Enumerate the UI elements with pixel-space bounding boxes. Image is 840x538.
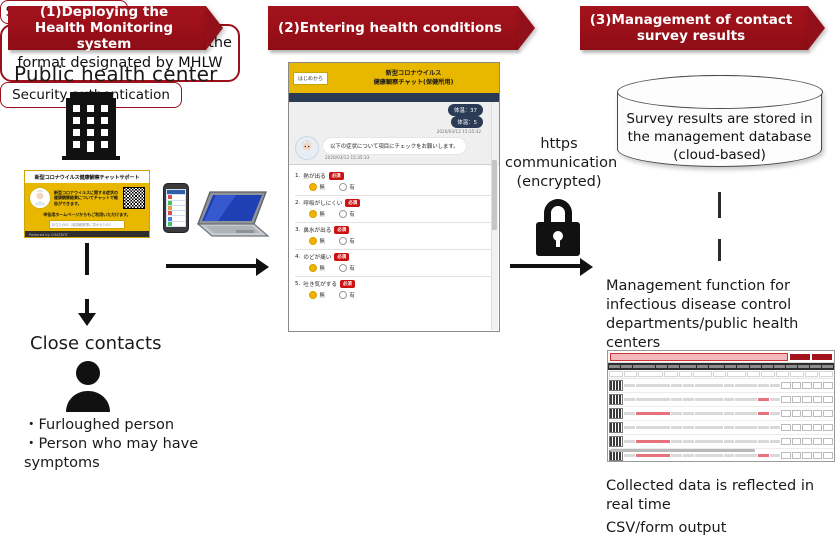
option-yes[interactable]: 有 bbox=[339, 291, 355, 299]
https-line-3: (encrypted) bbox=[505, 173, 613, 192]
question-number: 1. bbox=[295, 173, 300, 179]
option-no-label: 無 bbox=[320, 210, 325, 218]
connector-security-to-management bbox=[718, 239, 721, 261]
radio-no-icon[interactable] bbox=[309, 237, 317, 245]
option-no[interactable]: 無 bbox=[309, 210, 325, 218]
chat-scrollbar-thumb[interactable] bbox=[492, 160, 497, 230]
database-cylinder-top bbox=[617, 75, 823, 109]
radio-yes-icon[interactable] bbox=[339, 264, 347, 272]
https-line-2: communication bbox=[505, 154, 613, 173]
database-cylinder-icon: Survey results are stored inthe manageme… bbox=[617, 75, 822, 167]
table-action-button-2[interactable] bbox=[812, 354, 832, 360]
arrow-down-to-guidance bbox=[85, 243, 89, 275]
person-icon bbox=[62, 360, 114, 412]
arrow-right-step1-to-step2-line bbox=[166, 264, 258, 268]
question-label: 1. 熱が出る 必須 bbox=[295, 172, 493, 180]
footer-line-2: CSV/form output bbox=[606, 519, 838, 538]
table-header-row bbox=[608, 363, 834, 370]
https-communication-label: https communication (encrypted) bbox=[505, 135, 613, 192]
option-yes[interactable]: 有 bbox=[339, 183, 355, 191]
doctor-avatar-icon bbox=[295, 136, 319, 160]
option-no[interactable]: 無 bbox=[309, 291, 325, 299]
arrow-down-to-contacts-head bbox=[78, 313, 96, 326]
table-row[interactable] bbox=[608, 393, 834, 407]
question-label: 2. 呼吸がしにくい 必須 bbox=[295, 199, 493, 207]
radio-yes-icon[interactable] bbox=[339, 237, 347, 245]
option-yes-label: 有 bbox=[349, 237, 354, 245]
banner-step-1-label: (1)Deploying the Health Monitoring syste… bbox=[16, 4, 192, 52]
banner-step-3-label: (3)Management of contact survey results bbox=[588, 12, 794, 44]
question-label: 4. のどが痛い 必須 bbox=[295, 253, 493, 261]
database-text: Survey results are stored inthe manageme… bbox=[618, 110, 821, 164]
poster-title: 新型コロナウイルス健康観察チャットサポート bbox=[25, 171, 149, 183]
poster-subtext: 申告用ホームページからもご利用いただけます。 bbox=[25, 212, 149, 218]
required-badge: 必須 bbox=[329, 172, 344, 180]
banner-step-2: (2)Entering health conditions bbox=[268, 6, 518, 50]
user-timestamp: 2020/03/12 15:35:32 bbox=[437, 129, 481, 134]
row-thumbnail bbox=[609, 394, 623, 405]
required-badge: 必須 bbox=[334, 253, 349, 261]
option-no-label: 無 bbox=[320, 237, 325, 245]
option-yes-label: 有 bbox=[349, 183, 354, 191]
chat-support-poster: 新型コロナウイルス健康観察チャットサポート 新型コロナウイルスに関する症状の健康… bbox=[24, 170, 150, 238]
radio-no-icon[interactable] bbox=[309, 264, 317, 272]
option-no-label: 無 bbox=[320, 264, 325, 272]
close-contacts-title: Close contacts bbox=[30, 333, 162, 354]
table-toolbar[interactable] bbox=[608, 351, 834, 363]
option-no[interactable]: 無 bbox=[309, 183, 325, 191]
required-badge: 必須 bbox=[345, 199, 360, 207]
symptom-question-list[interactable]: 1. 熱が出る 必須 無 有 2. 呼吸がしにくい 必須 無 有 3. bbox=[289, 165, 499, 303]
option-no-label: 無 bbox=[320, 183, 325, 191]
health-chat-mockup[interactable]: はじめから 新型コロナウイルス 健康観察チャット(保健所用) 体温：37 体温：… bbox=[288, 62, 500, 332]
radio-no-icon[interactable] bbox=[309, 210, 317, 218]
option-no[interactable]: 無 bbox=[309, 264, 325, 272]
question-text: 熱が出る bbox=[303, 172, 325, 180]
chat-title-line2: 健康観察チャット(保健所用) bbox=[332, 78, 495, 87]
bot-message: 以下の症状について項目にチェックをお願いします。 bbox=[323, 138, 466, 154]
bot-timestamp: 2020/03/12 15:35:33 bbox=[325, 155, 369, 160]
arrow-right-step2-to-step3-head bbox=[580, 258, 593, 276]
connector-db-to-security bbox=[718, 192, 721, 218]
smartphone-icon bbox=[163, 183, 189, 233]
radio-no-icon[interactable] bbox=[309, 291, 317, 299]
option-yes-label: 有 bbox=[349, 291, 354, 299]
row-thumbnail bbox=[609, 422, 623, 433]
data-table-screenshot[interactable] bbox=[607, 350, 835, 462]
question-number: 2. bbox=[295, 200, 300, 206]
option-yes-label: 有 bbox=[349, 210, 354, 218]
https-line-1: https bbox=[505, 135, 613, 154]
chat-header: はじめから 新型コロナウイルス 健康観察チャット(保健所用) bbox=[289, 63, 499, 93]
table-row[interactable] bbox=[608, 421, 834, 435]
question-number: 4. bbox=[295, 254, 300, 260]
question-text: のどが痛い bbox=[303, 253, 331, 261]
office-building-icon bbox=[62, 92, 120, 160]
chat-message-area: 体温：37 体温：5 2020/03/12 15:35:32 以下の症状について… bbox=[289, 102, 499, 165]
bullet-furloughed: ・Furloughed person bbox=[24, 416, 244, 435]
banner-step-2-label: (2)Entering health conditions bbox=[278, 20, 502, 36]
question-number: 5. bbox=[295, 281, 300, 287]
padlock-icon bbox=[526, 196, 590, 258]
question-label: 3. 鼻水が出る 必須 bbox=[295, 226, 493, 234]
question-row[interactable]: 2. 呼吸がしにくい 必須 無 有 bbox=[295, 196, 493, 223]
option-yes[interactable]: 有 bbox=[339, 237, 355, 245]
radio-yes-icon[interactable] bbox=[339, 291, 347, 299]
management-function-text: Management function forinfectious diseas… bbox=[606, 277, 836, 353]
option-yes-label: 有 bbox=[349, 264, 354, 272]
table-row[interactable] bbox=[608, 379, 834, 393]
collected-data-footer: Collected data is reflected inreal time … bbox=[606, 477, 838, 538]
chat-title-line1: 新型コロナウイルス bbox=[332, 69, 495, 78]
table-action-button-1[interactable] bbox=[790, 354, 810, 360]
row-thumbnail bbox=[609, 408, 623, 419]
table-horizontal-scrollbar[interactable] bbox=[610, 449, 755, 452]
poster-footer: Powered by CHATBOT bbox=[25, 231, 149, 238]
chat-scrollbar[interactable] bbox=[491, 102, 498, 330]
question-text: 吐き気がする bbox=[303, 280, 337, 288]
row-thumbnail bbox=[609, 436, 623, 447]
question-label: 5. 吐き気がする 必須 bbox=[295, 280, 493, 288]
close-contacts-bullets: ・Furloughed person ・Person who may have … bbox=[24, 416, 244, 473]
bullet-symptoms-1: ・Person who may have bbox=[24, 435, 244, 454]
poster-id-input: あなたのID（健康観察票に書かれたID） bbox=[49, 220, 126, 229]
laptop-icon bbox=[196, 190, 270, 242]
table-row[interactable] bbox=[608, 435, 834, 449]
public-health-center-title: Public health center bbox=[14, 62, 218, 86]
radio-yes-icon[interactable] bbox=[339, 183, 347, 191]
banner-step-1: (1)Deploying the Health Monitoring syste… bbox=[8, 6, 206, 50]
option-no[interactable]: 無 bbox=[309, 237, 325, 245]
qr-code-icon bbox=[123, 187, 145, 209]
option-yes[interactable]: 有 bbox=[339, 264, 355, 272]
row-thumbnail bbox=[609, 380, 623, 391]
question-number: 3. bbox=[295, 227, 300, 233]
poster-avatar bbox=[29, 187, 51, 209]
arrow-right-step1-to-step2-head bbox=[256, 258, 269, 276]
required-badge: 必須 bbox=[334, 226, 349, 234]
poster-copy: 新型コロナウイルスに関する症状の健康観察結果についてチャットで報告ができます。 bbox=[54, 190, 120, 206]
chat-navbar bbox=[289, 93, 499, 102]
option-no-label: 無 bbox=[320, 291, 325, 299]
option-yes[interactable]: 有 bbox=[339, 210, 355, 218]
bullet-symptoms-2: symptoms bbox=[24, 454, 244, 473]
table-filter-row[interactable] bbox=[608, 370, 834, 379]
question-row[interactable]: 4. のどが痛い 必須 無 有 bbox=[295, 250, 493, 277]
table-row[interactable] bbox=[608, 407, 834, 421]
question-row[interactable]: 1. 熱が出る 必須 無 有 bbox=[295, 169, 493, 196]
required-badge: 必須 bbox=[340, 280, 355, 288]
chat-title: 新型コロナウイルス 健康観察チャット(保健所用) bbox=[332, 69, 495, 87]
banner-step-3: (3)Management of contact survey results bbox=[580, 6, 808, 50]
question-row[interactable]: 5. 吐き気がする 必須 無 有 bbox=[295, 277, 493, 303]
question-text: 呼吸がしにくい bbox=[303, 199, 342, 207]
question-row[interactable]: 3. 鼻水が出る 必須 無 有 bbox=[295, 223, 493, 250]
user-bubble-2: 体温：5 bbox=[451, 116, 483, 128]
user-bubble-1: 体温：37 bbox=[448, 104, 483, 116]
arrow-right-step2-to-step3-line bbox=[510, 264, 582, 268]
chat-restart-button[interactable]: はじめから bbox=[293, 72, 328, 85]
footer-line-1: Collected data is reflected inreal time bbox=[606, 477, 838, 515]
question-text: 鼻水が出る bbox=[303, 226, 331, 234]
radio-yes-icon[interactable] bbox=[339, 210, 347, 218]
radio-no-icon[interactable] bbox=[309, 183, 317, 191]
table-search-strip[interactable] bbox=[610, 353, 788, 361]
